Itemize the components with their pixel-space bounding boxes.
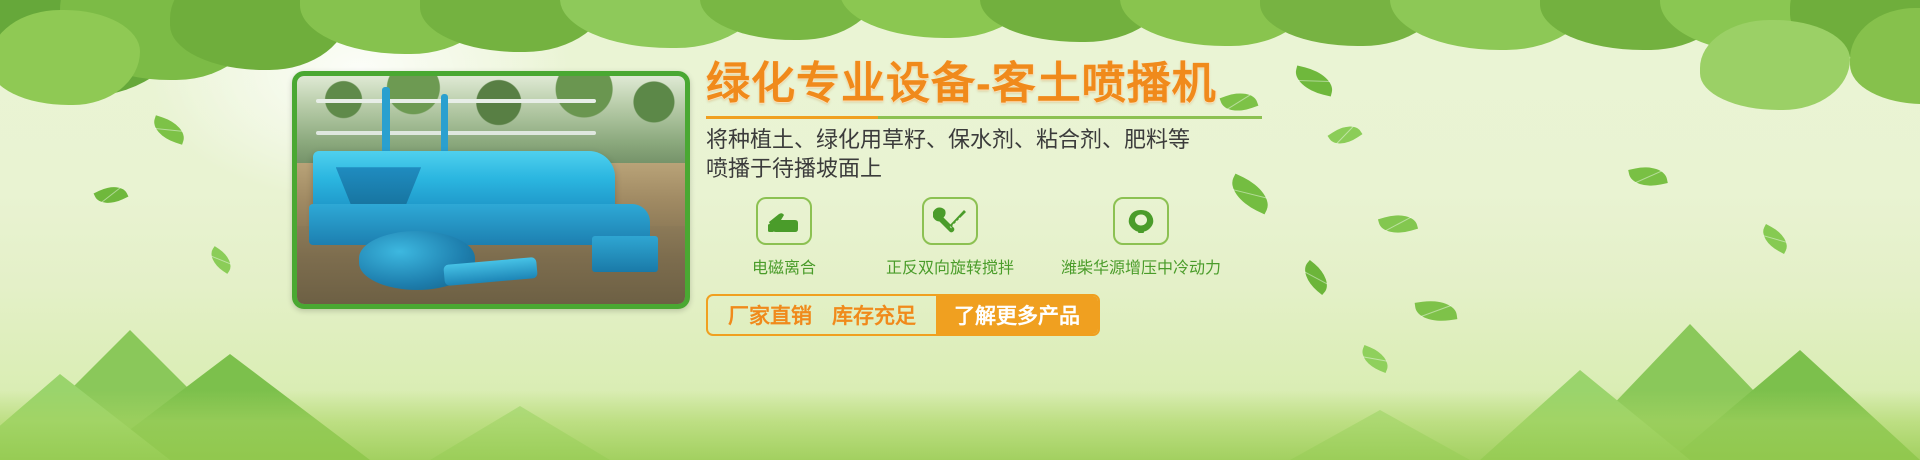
- feature-icon-box: [922, 197, 978, 245]
- product-photo-image: [297, 76, 685, 304]
- feature-label: 潍柴华源增压中冷动力: [1061, 254, 1221, 278]
- product-photo[interactable]: [292, 71, 690, 309]
- engine-gear-icon: [1125, 207, 1157, 235]
- leaf-icon: [1358, 345, 1393, 373]
- learn-more-button[interactable]: 了解更多产品: [936, 296, 1098, 334]
- wrench-screwdriver-icon: [933, 207, 967, 235]
- feature-item-clutch[interactable]: 电磁离合: [706, 197, 862, 278]
- leaf-icon: [206, 246, 237, 274]
- subtitle-line-1: 将种植土、绿化用草籽、保水剂、粘合剂、肥料等: [706, 125, 1406, 154]
- feature-icon-box: [756, 197, 812, 245]
- page-title: 绿化专业设备-客土喷播机: [706, 62, 1406, 106]
- leaf-icon: [1628, 162, 1668, 190]
- grass-band: [0, 390, 1920, 460]
- banner-content: 绿化专业设备-客土喷播机 将种植土、绿化用草籽、保水剂、粘合剂、肥料等 喷播于待…: [706, 62, 1406, 336]
- feature-label: 电磁离合: [752, 254, 816, 278]
- feature-item-mixing[interactable]: 正反双向旋转搅拌: [862, 197, 1038, 278]
- clutch-hand-icon: [767, 208, 801, 234]
- leaf-icon: [1758, 224, 1793, 254]
- leaf-icon: [94, 180, 129, 209]
- promo-banner: 绿化专业设备-客土喷播机 将种植土、绿化用草籽、保水剂、粘合剂、肥料等 喷播于待…: [0, 0, 1920, 460]
- feature-list: 电磁离合 正反双向旋转搅拌: [706, 197, 1406, 278]
- leaf-icon: [150, 115, 189, 145]
- cta-tag-in-stock: 库存充足: [832, 296, 936, 334]
- feature-icon-box: [1113, 197, 1169, 245]
- subtitle-line-2: 喷播于待播坡面上: [706, 154, 1406, 183]
- title-divider: [706, 116, 1262, 119]
- feature-label: 正反双向旋转搅拌: [886, 254, 1014, 278]
- leaf-icon: [1415, 297, 1458, 324]
- cta-tag-factory-direct: 厂家直销: [708, 296, 832, 334]
- feature-item-engine[interactable]: 潍柴华源增压中冷动力: [1038, 197, 1244, 278]
- cta-bar: 厂家直销 库存充足 了解更多产品: [706, 294, 1100, 336]
